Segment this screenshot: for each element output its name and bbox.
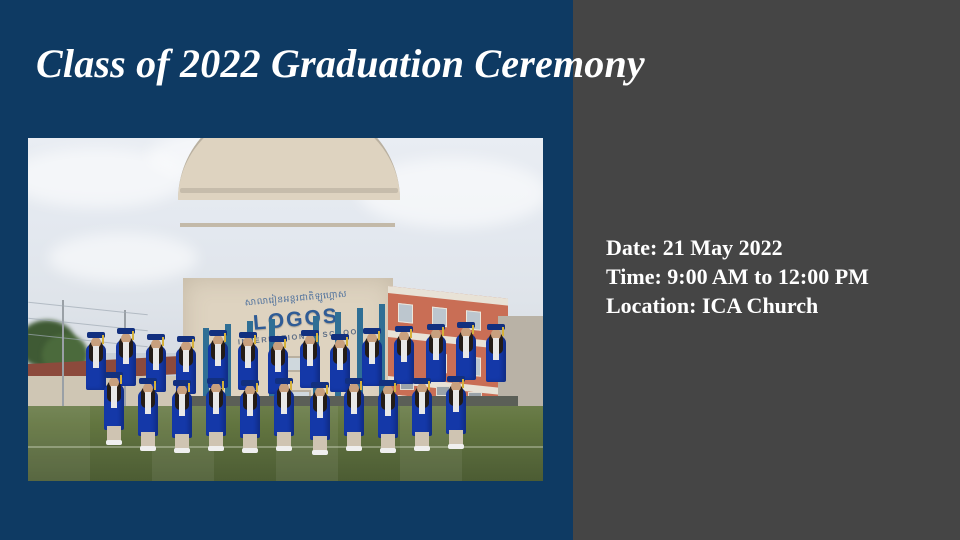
stole (419, 392, 425, 414)
stole (247, 394, 253, 416)
stole (215, 344, 221, 366)
stole (463, 336, 469, 358)
cap-tassel (326, 385, 328, 394)
cap-tassel (254, 335, 256, 344)
stole (145, 392, 151, 414)
fence-pole (62, 300, 64, 410)
cap-tassel (394, 383, 396, 392)
cap-tassel (428, 381, 430, 390)
stole (351, 392, 357, 414)
cap-tassel (378, 331, 380, 340)
wing-window (398, 303, 413, 324)
stole (453, 390, 459, 412)
shoes (414, 446, 430, 451)
cap-tassel (360, 381, 362, 390)
shoes (346, 446, 362, 451)
shoes (380, 448, 396, 453)
detail-line-date: Date: 21 May 2022 (606, 233, 869, 262)
cap-tassel (102, 335, 104, 344)
stole (317, 396, 323, 418)
cap-tassel (284, 339, 286, 348)
shoes (140, 446, 156, 451)
turf-stripe (28, 406, 90, 481)
stole (213, 392, 219, 414)
graduation-photo: សាលារៀនអន្តរជាតិឡូហ្គោស LOGOS INTERNATIO… (28, 138, 543, 481)
shoes (312, 450, 328, 455)
gable-cornice (180, 223, 395, 227)
stole (123, 342, 129, 364)
stole (275, 350, 281, 372)
cap-tassel (154, 381, 156, 390)
shoes (106, 440, 122, 445)
detail-line-time: Time: 9:00 AM to 12:00 PM (606, 262, 869, 291)
cap-tassel (162, 337, 164, 346)
cap-tassel (132, 331, 134, 340)
cap-tassel (256, 383, 258, 392)
cap-tassel (290, 381, 292, 390)
cap-tassel (192, 339, 194, 348)
cap-tassel (502, 327, 504, 336)
stole (93, 346, 99, 368)
cap-tassel (222, 381, 224, 390)
arch-trim-band (180, 188, 398, 193)
cap-tassel (188, 383, 190, 392)
event-details: Date: 21 May 2022 Time: 9:00 AM to 12:00… (606, 233, 869, 320)
stole (369, 342, 375, 364)
cap-tassel (472, 325, 474, 334)
photo-content: សាលារៀនអន្តរជាតិឡូហ្គោស LOGOS INTERNATIO… (28, 138, 543, 481)
stole (401, 340, 407, 362)
detail-line-location: Location: ICA Church (606, 291, 869, 320)
cap-tassel (120, 375, 122, 384)
cap-tassel (316, 333, 318, 342)
stole (183, 350, 189, 372)
stole (111, 386, 117, 408)
stole (385, 394, 391, 416)
cap-tassel (462, 379, 464, 388)
stole (337, 348, 343, 370)
stole (179, 394, 185, 416)
stole (493, 338, 499, 360)
shoes (276, 446, 292, 451)
stole (153, 348, 159, 370)
page-title: Class of 2022 Graduation Ceremony (36, 41, 936, 87)
stole (281, 392, 287, 414)
stole (307, 344, 313, 366)
shoes (448, 444, 464, 449)
cloud-shape (48, 233, 198, 283)
cap-tassel (442, 327, 444, 336)
stole (245, 346, 251, 368)
cap-tassel (346, 337, 348, 346)
cap-tassel (224, 333, 226, 342)
cap-tassel (410, 329, 412, 338)
stole (433, 338, 439, 360)
shoes (242, 448, 258, 453)
shoes (174, 448, 190, 453)
shoes (208, 446, 224, 451)
slide-canvas: សាលារៀនអន្តរជាតិឡូហ្គោស LOGOS INTERNATIO… (0, 0, 960, 540)
